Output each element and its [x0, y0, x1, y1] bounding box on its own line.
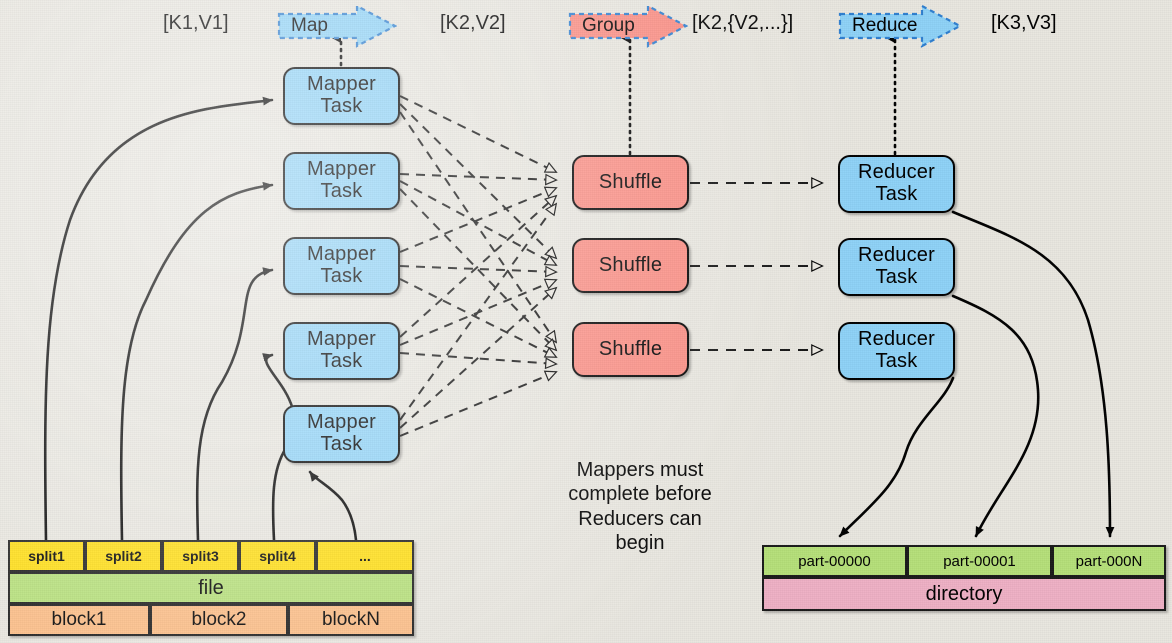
file-row[interactable]: file [8, 572, 414, 604]
group-phase-label: Group [568, 15, 635, 37]
shuffle-3[interactable]: Shuffle [572, 322, 689, 377]
group-phase-arrow[interactable]: Group [568, 4, 688, 48]
reducer-task-1[interactable]: Reducer Task [838, 155, 955, 213]
split-cell-1[interactable]: split1 [8, 540, 85, 572]
mapper-task-4[interactable]: Mapper Task [283, 322, 400, 380]
mapper-task-1[interactable]: Mapper Task [283, 67, 400, 125]
block-cell-n[interactable]: blockN [288, 604, 414, 636]
mapreduce-diagram-canvas: [K1,V1] Map [K2,V2] Group [K2,{V2,...}] … [0, 0, 1172, 643]
mapper-task-3[interactable]: Mapper Task [283, 237, 400, 295]
mapper-task-5[interactable]: Mapper Task [283, 405, 400, 463]
split-cell-4[interactable]: split4 [239, 540, 316, 572]
key-label-k1v1: [K1,V1] [163, 12, 229, 35]
block-cell-1[interactable]: block1 [8, 604, 150, 636]
shuffle-1[interactable]: Shuffle [572, 155, 689, 210]
reduce-phase-label: Reduce [838, 15, 918, 37]
map-phase-label: Map [277, 15, 328, 37]
block-cell-2[interactable]: block2 [150, 604, 288, 636]
map-phase-arrow[interactable]: Map [277, 4, 397, 48]
mapper-task-2[interactable]: Mapper Task [283, 152, 400, 210]
split-cell-2[interactable]: split2 [85, 540, 162, 572]
reducer-task-3[interactable]: Reducer Task [838, 322, 955, 380]
split-cell-more[interactable]: ... [316, 540, 414, 572]
part-cell-000N[interactable]: part-000N [1052, 545, 1166, 577]
reducer-task-2[interactable]: Reducer Task [838, 238, 955, 296]
part-cell-00000[interactable]: part-00000 [762, 545, 907, 577]
directory-row[interactable]: directory [762, 577, 1166, 611]
reduce-phase-arrow[interactable]: Reduce [838, 4, 962, 48]
key-label-k2v2: [K2,V2] [440, 12, 506, 35]
ordering-note: Mappers must complete before Reducers ca… [520, 458, 760, 556]
key-label-k3v3: [K3,V3] [991, 12, 1057, 35]
key-label-k2v2set: [K2,{V2,...}] [692, 12, 793, 35]
split-cell-3[interactable]: split3 [162, 540, 239, 572]
shuffle-2[interactable]: Shuffle [572, 238, 689, 293]
part-cell-00001[interactable]: part-00001 [907, 545, 1052, 577]
